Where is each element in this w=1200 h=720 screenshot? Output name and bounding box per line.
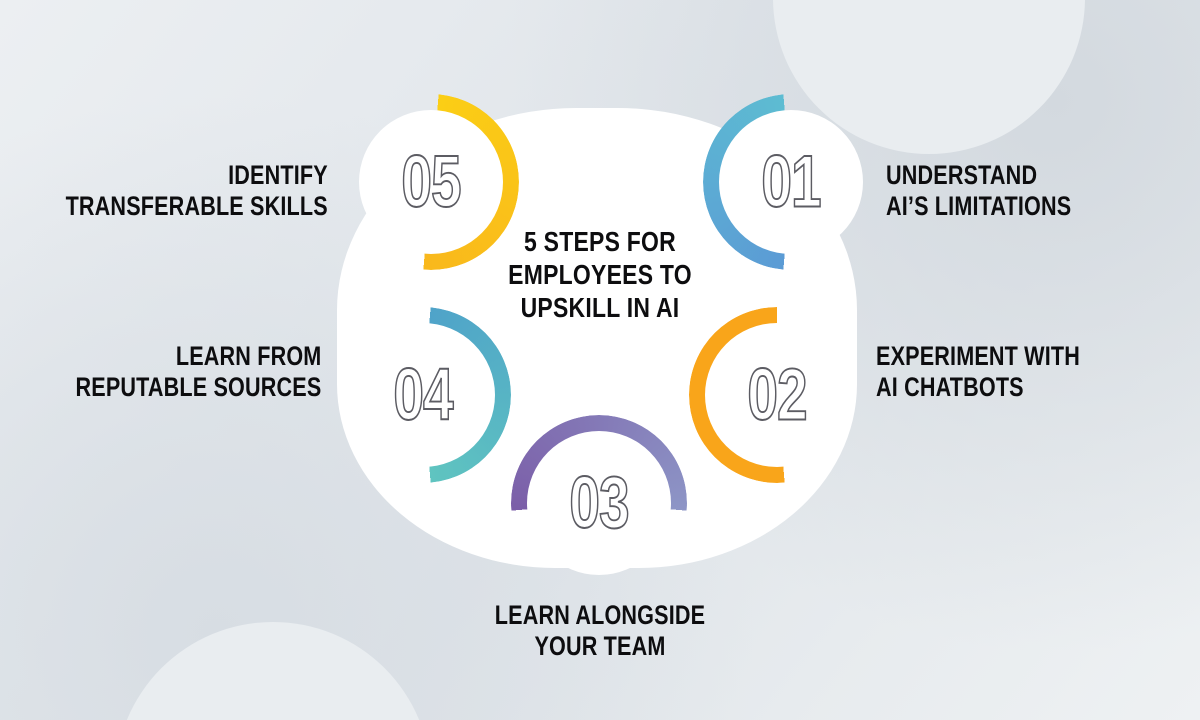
step-label-05: IDENTIFY TRANSFERABLE SKILLS [66,160,328,223]
step-label-02: EXPERIMENT WITH AI CHATBOTS [876,341,1080,404]
step-number-01: 01 [761,146,820,219]
step-node-02[interactable]: 02 [689,307,865,483]
step-disc-05: 05 [359,110,503,254]
step-label-01: UNDERSTAND AI’S LIMITATIONS [886,160,1071,223]
step-number-02: 02 [747,359,806,432]
infographic-canvas: IDENTIFY TRANSFERABLE SKILLS LEARN FROM … [0,0,1200,720]
step-disc-02: 02 [705,323,849,467]
step-label-03: LEARN ALONGSIDE YOUR TEAM [120,600,1080,663]
step-number-03: 03 [569,467,628,540]
step-label-04: LEARN FROM REPUTABLE SOURCES [75,341,321,404]
step-node-01[interactable]: 01 [703,94,879,270]
step-number-05: 05 [401,146,460,219]
step-disc-03: 03 [527,431,671,575]
step-node-04[interactable]: 04 [335,307,511,483]
step-number-04: 04 [393,359,452,432]
step-node-03[interactable]: 03 [511,415,687,591]
step-disc-01: 01 [719,110,863,254]
step-node-05[interactable]: 05 [343,94,519,270]
step-disc-04: 04 [351,323,495,467]
